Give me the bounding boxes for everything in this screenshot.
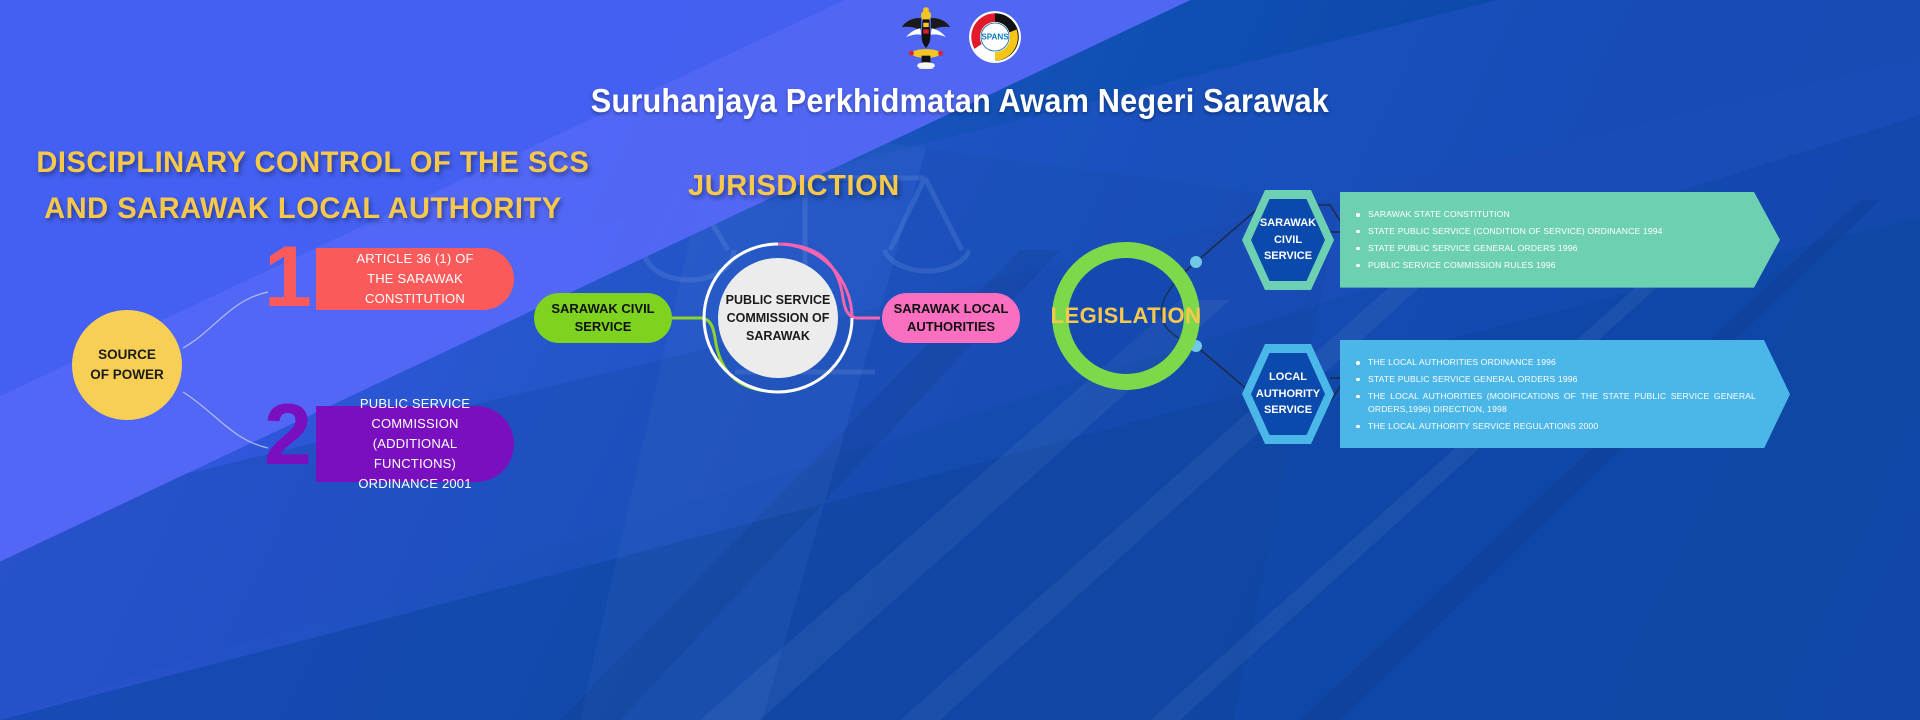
list-item: STATE PUBLIC SERVICE (CONDITION OF SERVI… [1356, 225, 1746, 238]
page-title: DISCIPLINARY CONTROL OF THE SCS AND SARA… [36, 140, 579, 231]
hex-scs-line-1: SARAWAK [1260, 215, 1316, 232]
hex-local-authority-service-shape: LOCAL AUTHORITY SERVICE [1242, 344, 1334, 444]
legislation-list-civil-service-items: SARAWAK STATE CONSTITUTION STATE PUBLIC … [1356, 208, 1746, 272]
source-item-1[interactable]: 1 ARTICLE 36 (1) OF THE SARAWAK CONSTITU… [264, 248, 514, 310]
sarawak-coat-of-arms-icon [898, 4, 954, 70]
hex-scs-line-2: CIVIL [1274, 232, 1302, 249]
legislation-list-local-authority: THE LOCAL AUTHORITIES ORDINANCE 1996 STA… [1340, 340, 1790, 448]
hex-las-line-1: LOCAL [1269, 369, 1307, 386]
list-item: THE LOCAL AUTHORITIES (MODIFICATIONS OF … [1356, 390, 1756, 416]
jurisdiction-heading: JURISDICTION [688, 170, 900, 203]
list-item: STATE PUBLIC SERVICE GENERAL ORDERS 1996 [1356, 242, 1746, 255]
hex-local-authority-service[interactable]: LOCAL AUTHORITY SERVICE [1242, 344, 1334, 444]
jurisdiction-left-pill[interactable]: SARAWAK CIVIL SERVICE [534, 293, 672, 343]
list-item: THE LOCAL AUTHORITIES ORDINANCE 1996 [1356, 356, 1756, 369]
hex-sarawak-civil-service[interactable]: SARAWAK CIVIL SERVICE [1242, 190, 1334, 290]
header: SPANS Suruhanjaya Perkhidmatan Awam Nege… [0, 4, 1920, 124]
list-item: PUBLIC SERVICE COMMISSION RULES 1996 [1356, 259, 1746, 272]
legislation-list-local-authority-items: THE LOCAL AUTHORITIES ORDINANCE 1996 STA… [1356, 356, 1756, 432]
spans-logo-icon: SPANS [968, 10, 1022, 64]
source-item-2[interactable]: 2 PUBLIC SERVICE COMMISSION (ADDITIONAL … [264, 406, 514, 482]
legislation-label: LEGISLATION [1051, 303, 1202, 329]
brand-title: Suruhanjaya Perkhidmatan Awam Negeri Sar… [591, 82, 1329, 120]
hex-sarawak-civil-service-shape: SARAWAK CIVIL SERVICE [1242, 190, 1334, 290]
source-item-1-number: 1 [264, 244, 309, 311]
source-item-1-text: ARTICLE 36 (1) OF THE SARAWAK CONSTITUTI… [316, 248, 514, 310]
jurisdiction-right-pill[interactable]: SARAWAK LOCAL AUTHORITIES [882, 293, 1020, 343]
source-item-2-number: 2 [264, 402, 309, 469]
list-item: THE LOCAL AUTHORITY SERVICE REGULATIONS … [1356, 420, 1756, 433]
source-of-power-label-line-2: OF POWER [90, 365, 164, 385]
source-of-power-label-line-1: SOURCE [98, 345, 156, 365]
logo-row: SPANS [898, 4, 1022, 70]
legislation-node[interactable]: LEGISLATION [1052, 242, 1200, 390]
page-title-line-2: AND SARAWAK LOCAL AUTHORITY [36, 186, 579, 232]
hex-las-line-3: SERVICE [1264, 402, 1312, 419]
hex-scs-line-3: SERVICE [1264, 248, 1312, 265]
legislation-list-civil-service: SARAWAK STATE CONSTITUTION STATE PUBLIC … [1340, 192, 1780, 288]
spans-logo-text: SPANS [981, 33, 1009, 42]
list-item: STATE PUBLIC SERVICE GENERAL ORDERS 1996 [1356, 373, 1756, 386]
source-of-power-node[interactable]: SOURCE OF POWER [72, 310, 182, 420]
hex-las-line-2: AUTHORITY [1256, 386, 1320, 403]
hex-sarawak-civil-service-inner: SARAWAK CIVIL SERVICE [1251, 199, 1325, 281]
page-title-line-1: DISCIPLINARY CONTROL OF THE SCS [36, 140, 579, 186]
jurisdiction-center-node[interactable]: PUBLIC SERVICE COMMISSION OF SARAWAK [718, 258, 838, 378]
jurisdiction-center-label: PUBLIC SERVICE COMMISSION OF SARAWAK [718, 291, 838, 345]
list-item: SARAWAK STATE CONSTITUTION [1356, 208, 1746, 221]
infographic-canvas: SPANS Suruhanjaya Perkhidmatan Awam Nege… [0, 0, 1920, 720]
hex-local-authority-service-inner: LOCAL AUTHORITY SERVICE [1251, 353, 1325, 435]
source-item-2-text: PUBLIC SERVICE COMMISSION (ADDITIONAL FU… [316, 406, 514, 482]
